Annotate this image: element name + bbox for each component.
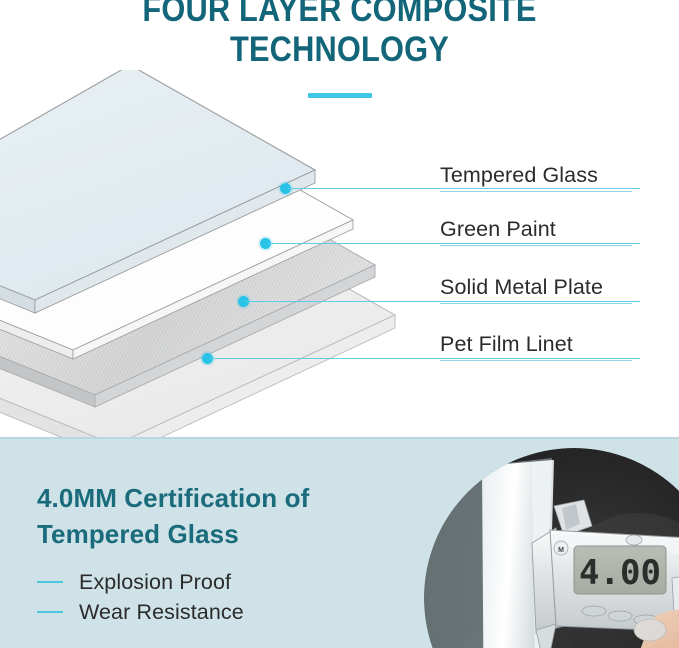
layer-label-solid-metal-plate: Solid Metal Plate <box>440 274 670 300</box>
layer-label-text: Green Paint <box>440 216 660 242</box>
feature-label: Explosion Proof <box>79 570 231 595</box>
dash-icon <box>37 611 63 613</box>
section-divider <box>0 437 679 439</box>
layer-label-underline <box>440 245 632 246</box>
feature-label: Wear Resistance <box>79 600 244 625</box>
dash-icon <box>37 581 63 583</box>
infographic-canvas: FOUR LAYER COMPOSITE TECHNOLOGY Tempered… <box>0 0 679 648</box>
feature-bullet-explosion-proof: Explosion Proof <box>37 567 244 597</box>
feature-bullet-list: Explosion Proof Wear Resistance <box>37 567 244 627</box>
certification-heading: 4.0MM Certification of Tempered Glass <box>37 480 397 552</box>
layer-label-underline <box>440 191 632 192</box>
layer-label-underline <box>440 303 632 304</box>
layer-stack-illustration <box>0 70 440 437</box>
caliper-reading: 4.00 <box>579 553 661 593</box>
layer-label-tempered-glass: Tempered Glass <box>440 162 660 188</box>
layer-label-text: Solid Metal Plate <box>440 274 670 300</box>
layer-label-text: Tempered Glass <box>440 162 660 188</box>
certification-heading-line-2: Tempered Glass <box>37 516 397 552</box>
feature-bullet-wear-resistance: Wear Resistance <box>37 597 244 627</box>
title-line-1: FOUR LAYER COMPOSITE <box>41 0 639 30</box>
title-divider <box>308 93 372 98</box>
top-diagram-section: FOUR LAYER COMPOSITE TECHNOLOGY Tempered… <box>0 0 679 437</box>
title-line-2: TECHNOLOGY <box>41 30 639 70</box>
layer-label-text: Pet Film Linet <box>440 331 660 357</box>
layer-label-green-paint: Green Paint <box>440 216 660 242</box>
page-title: FOUR LAYER COMPOSITE TECHNOLOGY <box>0 0 679 70</box>
svg-text:M: M <box>558 547 564 554</box>
callout-line-tempered-glass <box>288 188 640 189</box>
layer-label-pet-film-linet: Pet Film Linet <box>440 331 660 357</box>
layer-label-underline <box>440 360 632 361</box>
certification-heading-line-1: 4.0MM Certification of <box>37 480 397 516</box>
